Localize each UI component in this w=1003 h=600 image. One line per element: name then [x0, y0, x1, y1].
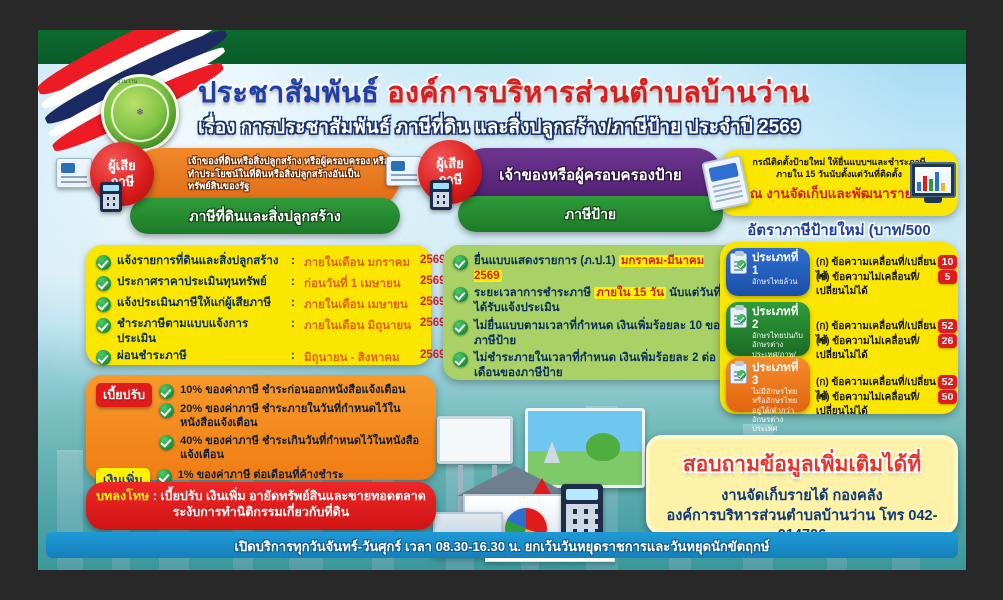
sign-rate-type-row: ประเภทที่ 3ไม่มีอักษรไทย หรืออักษรไทยอยู… — [726, 358, 952, 412]
check-icon — [96, 350, 111, 365]
schedule-separator: : — [291, 275, 298, 290]
schedule-task: แจ้งรายการที่ดินและสิ่งปลูกสร้าง — [117, 254, 285, 269]
sign-type-subtitle: อักษรไทยล้วน — [752, 277, 806, 286]
payer-label-line1: ผู้เสีย — [108, 158, 136, 174]
schedule-year: 2569 — [420, 254, 446, 266]
chart-monitor-icon — [910, 162, 956, 198]
page-title: ประชาสัมพันธ์ องค์การบริหารส่วนตำบลบ้านว… — [198, 78, 898, 142]
growth-arrow-icon — [533, 478, 551, 494]
contact-title: สอบถามข้อมูลเพิ่มเติมได้ที่ — [650, 448, 954, 481]
sign-rate-price: 52 — [938, 375, 957, 389]
rule-highlight: ภายใน 15 วัน — [594, 287, 666, 299]
sign-type-tile: ประเภทที่ 3ไม่มีอักษรไทย หรืออักษรไทยอยู… — [726, 358, 810, 412]
document-icon — [386, 156, 422, 186]
schedule-when: ภายในเดือน มกราคม — [304, 254, 414, 272]
check-icon — [96, 255, 111, 270]
schedule-when: ภายในเดือน เมษายน — [304, 296, 414, 314]
service-hours-bar: เปิดบริการทุกวันจันทร์-วันศุกร์ เวลา 08.… — [46, 532, 958, 558]
penalty-box: เบี้ยปรับ 10% ของค่าภาษี ชำระก่อนออกหนัง… — [86, 375, 436, 480]
rule-text-pre: ยื่นแบบแสดงรายการ (ภ.ป.1) — [474, 255, 619, 267]
schedule-year: 2569 — [420, 317, 446, 329]
schedule-separator: : — [291, 254, 298, 269]
fine-item: 10% ของค่าภาษี ชำระก่อนออกหนังสือแจ้งเตื… — [159, 383, 426, 399]
rule-text: ไม่ชำระภายในเวลาที่กำหนด เงินเพิ่มร้อยละ… — [474, 351, 728, 380]
calculator-large-icon — [561, 484, 603, 538]
calculator-icon — [430, 180, 452, 210]
sign-rate-price: 26 — [938, 334, 957, 348]
schedule-year: 2569 — [420, 296, 446, 308]
land-tax-schedule-box: แจ้งรายการที่ดินและสิ่งปลูกสร้าง:ภายในเด… — [86, 245, 431, 365]
service-hours-text: เปิดบริการทุกวันจันทร์-วันศุกร์ เวลา 08.… — [235, 539, 770, 554]
fine-item: 20% ของค่าภาษี ชำระภายในวันที่กำหนดไว้ใน… — [159, 402, 426, 431]
land-tax-category-pill: ภาษีที่ดินและสิ่งปลูกสร้าง — [130, 198, 400, 234]
sign-tax-rules-box: ยื่นแบบแสดงรายการ (ภ.ป.1) มกราคม-มีนาคม … — [443, 245, 738, 380]
penalty-text: 10% ของค่าภาษี ชำระก่อนออกหนังสือแจ้งเตื… — [180, 383, 405, 397]
bar-chart-icon — [917, 172, 945, 191]
sign-rate-table-box: ประเภทที่ 1อักษรไทยล้วน(ก) ข้อความเคลื่อ… — [720, 242, 958, 414]
schedule-row: ผ่อนชำระภาษี:มิถุนายน - สิงหาคม2569 — [96, 349, 421, 367]
calculator-icon — [100, 182, 122, 212]
schedule-row: ชำระภาษีตามแบบแจ้งการประเมิน:ภายในเดือน … — [96, 317, 421, 346]
schedule-when: ก่อนวันที่ 1 เมษายน — [304, 275, 414, 293]
sign-rate-price: 52 — [938, 319, 957, 333]
sign-rate-row: (ข) ข้อความไม่เคลื่อนที่/เปลี่ยนไม่ได้ — [816, 391, 936, 418]
check-icon — [737, 370, 746, 379]
rule-row: ไม่ยื่นแบบตามเวลาที่กำหนด เงินเพิ่มร้อยล… — [453, 319, 728, 348]
land-tax-category-label: ภาษีที่ดินและสิ่งปลูกสร้าง — [130, 206, 400, 228]
fine-label-tag: เบี้ยปรับ — [96, 383, 152, 407]
rule-row: ยื่นแบบแสดงรายการ (ภ.ป.1) มกราคม-มีนาคม … — [453, 254, 728, 283]
contact-box: สอบถามข้อมูลเพิ่มเติมได้ที่ งานจัดเก็บรา… — [646, 435, 958, 535]
land-tax-payer-description: เจ้าของที่ดินหรือสิ่งปลูกสร้าง หรือผู้คร… — [188, 155, 390, 193]
house-roof — [457, 466, 573, 496]
sign-rate-price: 10 — [938, 255, 957, 269]
schedule-task: แจ้งประเมินภาษีให้แก่ผู้เสียภาษี — [117, 296, 285, 311]
sign-tax-rules-list: ยื่นแบบแสดงรายการ (ภ.ป.1) มกราคม-มีนาคม … — [453, 254, 728, 381]
contact-department: งานจัดเก็บรายได้ กองคลัง — [650, 487, 954, 507]
penalty-text: 1% ของค่าภาษี ต่อเดือนที่ค้างชำระ — [178, 468, 344, 482]
check-icon — [453, 255, 468, 270]
schedule-task: ผ่อนชำระภาษี — [117, 349, 285, 364]
schedule-task: ชำระภาษีตามแบบแจ้งการประเมิน — [117, 317, 285, 346]
check-icon — [453, 287, 468, 302]
fine-item-list: 10% ของค่าภาษี ชำระก่อนออกหนังสือแจ้งเตื… — [159, 383, 426, 465]
rule-text-pre: ไม่ชำระภายในเวลาที่กำหนด เงินเพิ่มร้อยละ… — [474, 352, 716, 379]
penalty-text: 40% ของค่าภาษี ชำระเกินวันที่กำหนดไว้ในห… — [180, 434, 426, 463]
poster-canvas: ❄ อบต.บ้านว่าน ประชาสัมพันธ์ องค์การบริห… — [38, 30, 966, 570]
punishment-line1: เบี้ยปรับ เงินเพิ่ม อายัดทรัพย์สินและขาย… — [160, 489, 426, 503]
check-icon — [96, 276, 111, 291]
rule-row: ระยะเวลาการชำระภาษี ภายใน 15 วัน นับแต่ว… — [453, 286, 728, 315]
check-icon — [737, 314, 746, 323]
check-icon — [453, 352, 468, 367]
check-icon — [96, 297, 111, 312]
fine-item: 40% ของค่าภาษี ชำระเกินวันที่กำหนดไว้ในห… — [159, 434, 426, 463]
check-icon — [737, 260, 746, 269]
sign-type-tile: ประเภทที่ 2อักษรไทยปนกับอักษรต่างประเทศ/… — [726, 302, 810, 356]
penalty-text: 20% ของค่าภาษี ชำระภายในวันที่กำหนดไว้ใน… — [180, 402, 426, 431]
sign-type-title: ประเภทที่ 3 — [752, 362, 806, 387]
check-icon — [159, 384, 174, 399]
check-icon — [159, 435, 174, 450]
municipality-logo: ❄ อบต.บ้านว่าน — [101, 74, 179, 152]
check-icon — [159, 403, 174, 418]
headline-subtitle: เรื่อง การประชาสัมพันธ์ ภาษีที่ดิน และสิ… — [198, 112, 898, 142]
schedule-year: 2569 — [420, 349, 446, 361]
sign-type-subtitle: ไม่มีอักษรไทย หรืออักษรไทยอยู่ใต้/ต่ำกว่… — [752, 387, 806, 433]
rule-text: ระยะเวลาการชำระภาษี ภายใน 15 วัน นับแต่ว… — [474, 286, 728, 315]
sign-rate-type-row: ประเภทที่ 2อักษรไทยปนกับอักษรต่างประเทศ/… — [726, 302, 952, 356]
sign-type-tile: ประเภทที่ 1อักษรไทยล้วน — [726, 248, 810, 296]
rule-text-pre: ระยะเวลาการชำระภาษี — [474, 287, 594, 299]
sign-type-title: ประเภทที่ 1 — [752, 252, 806, 277]
payer-label-line1: ผู้เสีย — [436, 156, 464, 172]
rule-text: ไม่ยื่นแบบตามเวลาที่กำหนด เงินเพิ่มร้อยล… — [474, 319, 728, 348]
schedule-year: 2569 — [420, 275, 446, 287]
schedule-separator: : — [291, 296, 298, 311]
rule-row: ไม่ชำระภายในเวลาที่กำหนด เงินเพิ่มร้อยละ… — [453, 351, 728, 380]
sign-tax-category-label: ภาษีป้าย — [458, 204, 723, 226]
punishment-sep: : — [153, 489, 157, 503]
sign-tax-payer-description: เจ้าของหรือผู้ครอบครองป้าย — [458, 163, 723, 187]
headline-primary: ประชาสัมพันธ์ — [198, 77, 379, 109]
schedule-task: ประกาศราคาประเมินทุนทรัพย์ — [117, 275, 285, 290]
rule-text: ยื่นแบบแสดงรายการ (ภ.ป.1) มกราคม-มีนาคม … — [474, 254, 728, 283]
billboard-blank-icon — [437, 416, 513, 464]
sign-rate-row: (ข) ข้อความไม่เคลื่อนที่/เปลี่ยนไม่ได้ — [816, 271, 936, 298]
sign-type-title: ประเภทที่ 2 — [752, 306, 806, 331]
sign-rate-price: 5 — [938, 270, 957, 284]
logo-ring-text: อบต.บ้านว่าน — [105, 78, 175, 148]
check-icon — [453, 320, 468, 335]
punishment-bar: บทลงโทษ : เบี้ยปรับ เงินเพิ่ม อายัดทรัพย… — [86, 482, 436, 530]
headline-org-name: องค์การบริหารส่วนตำบลบ้านว่าน — [387, 77, 809, 109]
top-green-band — [38, 30, 966, 64]
sign-rate-price: 50 — [938, 390, 957, 404]
schedule-when: มิถุนายน - สิงหาคม — [304, 349, 414, 367]
check-icon — [96, 318, 111, 333]
schedule-separator: : — [291, 317, 298, 332]
sign-tax-category-pill: ภาษีป้าย — [458, 196, 723, 232]
schedule-row: แจ้งรายการที่ดินและสิ่งปลูกสร้าง:ภายในเด… — [96, 254, 421, 272]
punishment-line2: ระงับการทำนิติกรรมเกี่ยวกับที่ดิน — [86, 504, 436, 520]
rule-text-pre: ไม่ยื่นแบบตามเวลาที่กำหนด เงินเพิ่มร้อยล… — [474, 320, 726, 347]
schedule-row: แจ้งประเมินภาษีให้แก่ผู้เสียภาษี:ภายในเด… — [96, 296, 421, 314]
land-tax-schedule-list: แจ้งรายการที่ดินและสิ่งปลูกสร้าง:ภายในเด… — [96, 254, 421, 367]
schedule-when: ภายในเดือน มิถุนายน — [304, 317, 414, 335]
schedule-separator: : — [291, 349, 298, 364]
sign-rate-type-row: ประเภทที่ 1อักษรไทยล้วน(ก) ข้อความเคลื่อ… — [726, 248, 952, 296]
document-icon — [56, 158, 92, 188]
punishment-label: บทลงโทษ — [96, 489, 149, 503]
schedule-row: ประกาศราคาประเมินทุนทรัพย์:ก่อนวันที่ 1 … — [96, 275, 421, 293]
